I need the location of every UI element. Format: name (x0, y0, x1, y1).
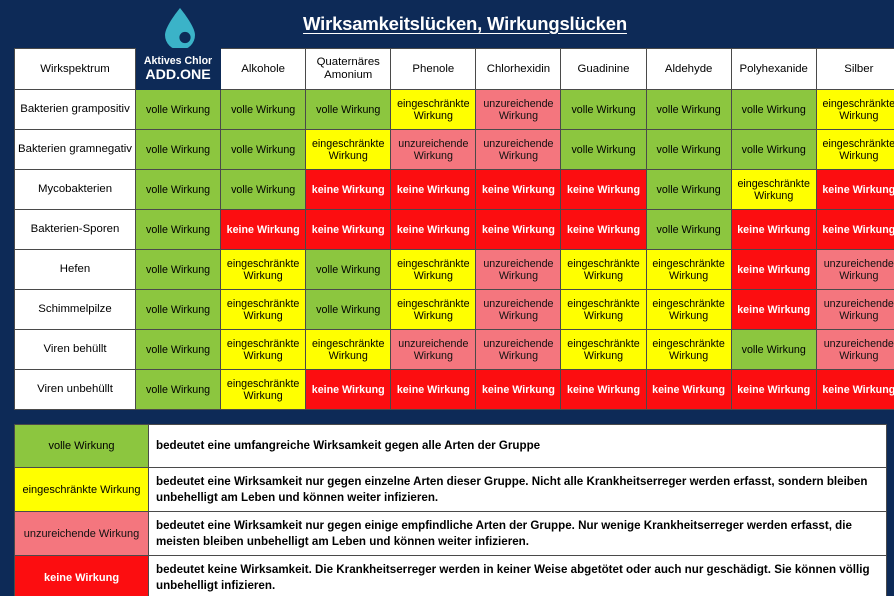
efficacy-cell: eingeschränkte Wirkung (221, 250, 306, 290)
column-header-quaternaeres-amonium: Quaternäres Amonium (306, 49, 391, 90)
efficacy-cell: keine Wirkung (731, 370, 816, 410)
efficacy-cell: keine Wirkung (646, 370, 731, 410)
efficacy-cell: unzureichende Wirkung (476, 290, 561, 330)
efficacy-cell: unzureichende Wirkung (391, 130, 476, 170)
efficacy-cell: volle Wirkung (221, 130, 306, 170)
efficacy-cell: keine Wirkung (391, 210, 476, 250)
efficacy-cell: keine Wirkung (816, 210, 894, 250)
brand-line-2: ADD.ONE (136, 67, 220, 83)
legend-body: volle Wirkungbedeutet eine umfangreiche … (15, 425, 887, 596)
spectrum-label: Bakterien grampositiv (15, 90, 136, 130)
efficacy-cell: keine Wirkung (816, 170, 894, 210)
efficacy-cell: eingeschränkte Wirkung (306, 130, 391, 170)
efficacy-cell: keine Wirkung (816, 370, 894, 410)
efficacy-cell: eingeschränkte Wirkung (391, 90, 476, 130)
efficacy-cell: volle Wirkung (731, 330, 816, 370)
efficacy-cell: volle Wirkung (136, 130, 221, 170)
efficacy-cell: volle Wirkung (306, 250, 391, 290)
efficacy-cell: eingeschränkte Wirkung (646, 330, 731, 370)
column-header-chlorhexidin: Chlorhexidin (476, 49, 561, 90)
efficacy-cell: keine Wirkung (306, 370, 391, 410)
table-body: Bakterien grampositivvolle Wirkungvolle … (15, 90, 894, 410)
header-row: Wirkspektrum Aktives Chlor ADD.ONE Alkoh… (15, 49, 894, 90)
efficacy-cell: volle Wirkung (136, 330, 221, 370)
table-row: Mycobakterienvolle Wirkungvolle Wirkungk… (15, 170, 894, 210)
efficacy-cell: eingeschränkte Wirkung (731, 170, 816, 210)
spectrum-label: Hefen (15, 250, 136, 290)
efficacy-cell: keine Wirkung (476, 370, 561, 410)
spectrum-label: Viren unbehüllt (15, 370, 136, 410)
efficacy-cell: eingeschränkte Wirkung (646, 250, 731, 290)
spectrum-label: Bakterien gramnegativ (15, 130, 136, 170)
efficacy-table: Wirkspektrum Aktives Chlor ADD.ONE Alkoh… (14, 48, 894, 410)
legend-row: keine Wirkungbedeutet keine Wirksamkeit.… (15, 556, 887, 596)
efficacy-cell: volle Wirkung (646, 90, 731, 130)
efficacy-cell: eingeschränkte Wirkung (306, 330, 391, 370)
legend-row: eingeschränkte Wirkungbedeutet eine Wirk… (15, 468, 887, 512)
efficacy-cell: keine Wirkung (731, 250, 816, 290)
efficacy-cell: eingeschränkte Wirkung (221, 370, 306, 410)
efficacy-cell: keine Wirkung (476, 210, 561, 250)
legend-key: eingeschränkte Wirkung (15, 468, 149, 512)
spectrum-label: Mycobakterien (15, 170, 136, 210)
column-header-alkohole: Alkohole (221, 49, 306, 90)
efficacy-cell: volle Wirkung (136, 370, 221, 410)
efficacy-cell: volle Wirkung (561, 130, 646, 170)
efficacy-cell: eingeschränkte Wirkung (391, 290, 476, 330)
efficacy-cell: volle Wirkung (646, 170, 731, 210)
table-head: Wirkspektrum Aktives Chlor ADD.ONE Alkoh… (15, 49, 894, 90)
efficacy-cell: unzureichende Wirkung (476, 330, 561, 370)
efficacy-cell: volle Wirkung (306, 290, 391, 330)
efficacy-cell: eingeschränkte Wirkung (816, 130, 894, 170)
legend-description: bedeutet eine umfangreiche Wirksamkeit g… (149, 425, 887, 468)
efficacy-cell: eingeschränkte Wirkung (561, 290, 646, 330)
legend-row: unzureichende Wirkungbedeutet eine Wirks… (15, 512, 887, 556)
efficacy-cell: volle Wirkung (136, 170, 221, 210)
column-header-polyhexanide: Polyhexanide (731, 49, 816, 90)
column-header-wirkspektrum: Wirkspektrum (15, 49, 136, 90)
efficacy-cell: keine Wirkung (476, 170, 561, 210)
efficacy-cell: eingeschränkte Wirkung (561, 330, 646, 370)
efficacy-cell: eingeschränkte Wirkung (561, 250, 646, 290)
efficacy-cell: volle Wirkung (221, 90, 306, 130)
column-header-silber: Silber (816, 49, 894, 90)
efficacy-cell: volle Wirkung (646, 130, 731, 170)
efficacy-cell: volle Wirkung (731, 130, 816, 170)
spectrum-label: Schimmelpilze (15, 290, 136, 330)
efficacy-cell: keine Wirkung (306, 210, 391, 250)
efficacy-cell: keine Wirkung (221, 210, 306, 250)
efficacy-cell: volle Wirkung (646, 210, 731, 250)
legend-key: volle Wirkung (15, 425, 149, 468)
efficacy-cell: keine Wirkung (561, 170, 646, 210)
efficacy-cell: eingeschränkte Wirkung (221, 330, 306, 370)
efficacy-cell: unzureichende Wirkung (476, 130, 561, 170)
efficacy-cell: keine Wirkung (561, 370, 646, 410)
column-header-phenole: Phenole (391, 49, 476, 90)
efficacy-cell: volle Wirkung (136, 290, 221, 330)
efficacy-cell: unzureichende Wirkung (391, 330, 476, 370)
efficacy-cell: unzureichende Wirkung (476, 250, 561, 290)
legend-key: keine Wirkung (15, 556, 149, 596)
table-row: Viren unbehülltvolle Wirkungeingeschränk… (15, 370, 894, 410)
efficacy-cell: volle Wirkung (136, 90, 221, 130)
efficacy-cell: unzureichende Wirkung (816, 250, 894, 290)
efficacy-cell: eingeschränkte Wirkung (391, 250, 476, 290)
brand-line-1: Aktives Chlor (136, 55, 220, 67)
table-row: Schimmelpilzevolle Wirkungeingeschränkte… (15, 290, 894, 330)
column-header-guadinine: Guadinine (561, 49, 646, 90)
efficacy-cell: volle Wirkung (306, 90, 391, 130)
legend-key: unzureichende Wirkung (15, 512, 149, 556)
efficacy-cell: eingeschränkte Wirkung (816, 90, 894, 130)
table-row: Bakterien grampositivvolle Wirkungvolle … (15, 90, 894, 130)
page-title: Wirksamkeitslücken, Wirkungslücken (303, 13, 627, 35)
poster-header: Wirksamkeitslücken, Wirkungslücken (0, 0, 894, 48)
efficacy-cell: unzureichende Wirkung (476, 90, 561, 130)
efficacy-cell: volle Wirkung (731, 90, 816, 130)
efficacy-cell: keine Wirkung (391, 170, 476, 210)
efficacy-cell: keine Wirkung (731, 210, 816, 250)
efficacy-cell: keine Wirkung (391, 370, 476, 410)
efficacy-cell: unzureichende Wirkung (816, 330, 894, 370)
efficacy-cell: keine Wirkung (561, 210, 646, 250)
legend-description: bedeutet eine Wirksamkeit nur gegen eini… (149, 512, 887, 556)
efficacy-cell: volle Wirkung (561, 90, 646, 130)
efficacy-cell: volle Wirkung (136, 210, 221, 250)
column-header-aldehyde: Aldehyde (646, 49, 731, 90)
legend-table: volle Wirkungbedeutet eine umfangreiche … (14, 424, 887, 596)
efficacy-cell: volle Wirkung (221, 170, 306, 210)
table-row: Bakterien-Sporenvolle Wirkungkeine Wirku… (15, 210, 894, 250)
efficacy-cell: eingeschränkte Wirkung (221, 290, 306, 330)
spectrum-label: Bakterien-Sporen (15, 210, 136, 250)
efficacy-cell: volle Wirkung (136, 250, 221, 290)
column-header-aktives-chlor: Aktives Chlor ADD.ONE (136, 49, 221, 90)
table-row: Hefenvolle Wirkungeingeschränkte Wirkung… (15, 250, 894, 290)
poster-root: Wirksamkeitslücken, Wirkungslücken Wirks… (0, 0, 894, 596)
efficacy-matrix: Wirkspektrum Aktives Chlor ADD.ONE Alkoh… (14, 48, 886, 410)
legend: volle Wirkungbedeutet eine umfangreiche … (14, 424, 886, 596)
table-row: Bakterien gramnegativvolle Wirkungvolle … (15, 130, 894, 170)
efficacy-cell: keine Wirkung (306, 170, 391, 210)
table-row: Viren behülltvolle Wirkungeingeschränkte… (15, 330, 894, 370)
legend-row: volle Wirkungbedeutet eine umfangreiche … (15, 425, 887, 468)
water-drop-logo-icon (160, 6, 200, 48)
efficacy-cell: eingeschränkte Wirkung (646, 290, 731, 330)
legend-description: bedeutet keine Wirksamkeit. Die Krankhei… (149, 556, 887, 596)
legend-description: bedeutet eine Wirksamkeit nur gegen einz… (149, 468, 887, 512)
efficacy-cell: unzureichende Wirkung (816, 290, 894, 330)
efficacy-cell: keine Wirkung (731, 290, 816, 330)
spectrum-label: Viren behüllt (15, 330, 136, 370)
